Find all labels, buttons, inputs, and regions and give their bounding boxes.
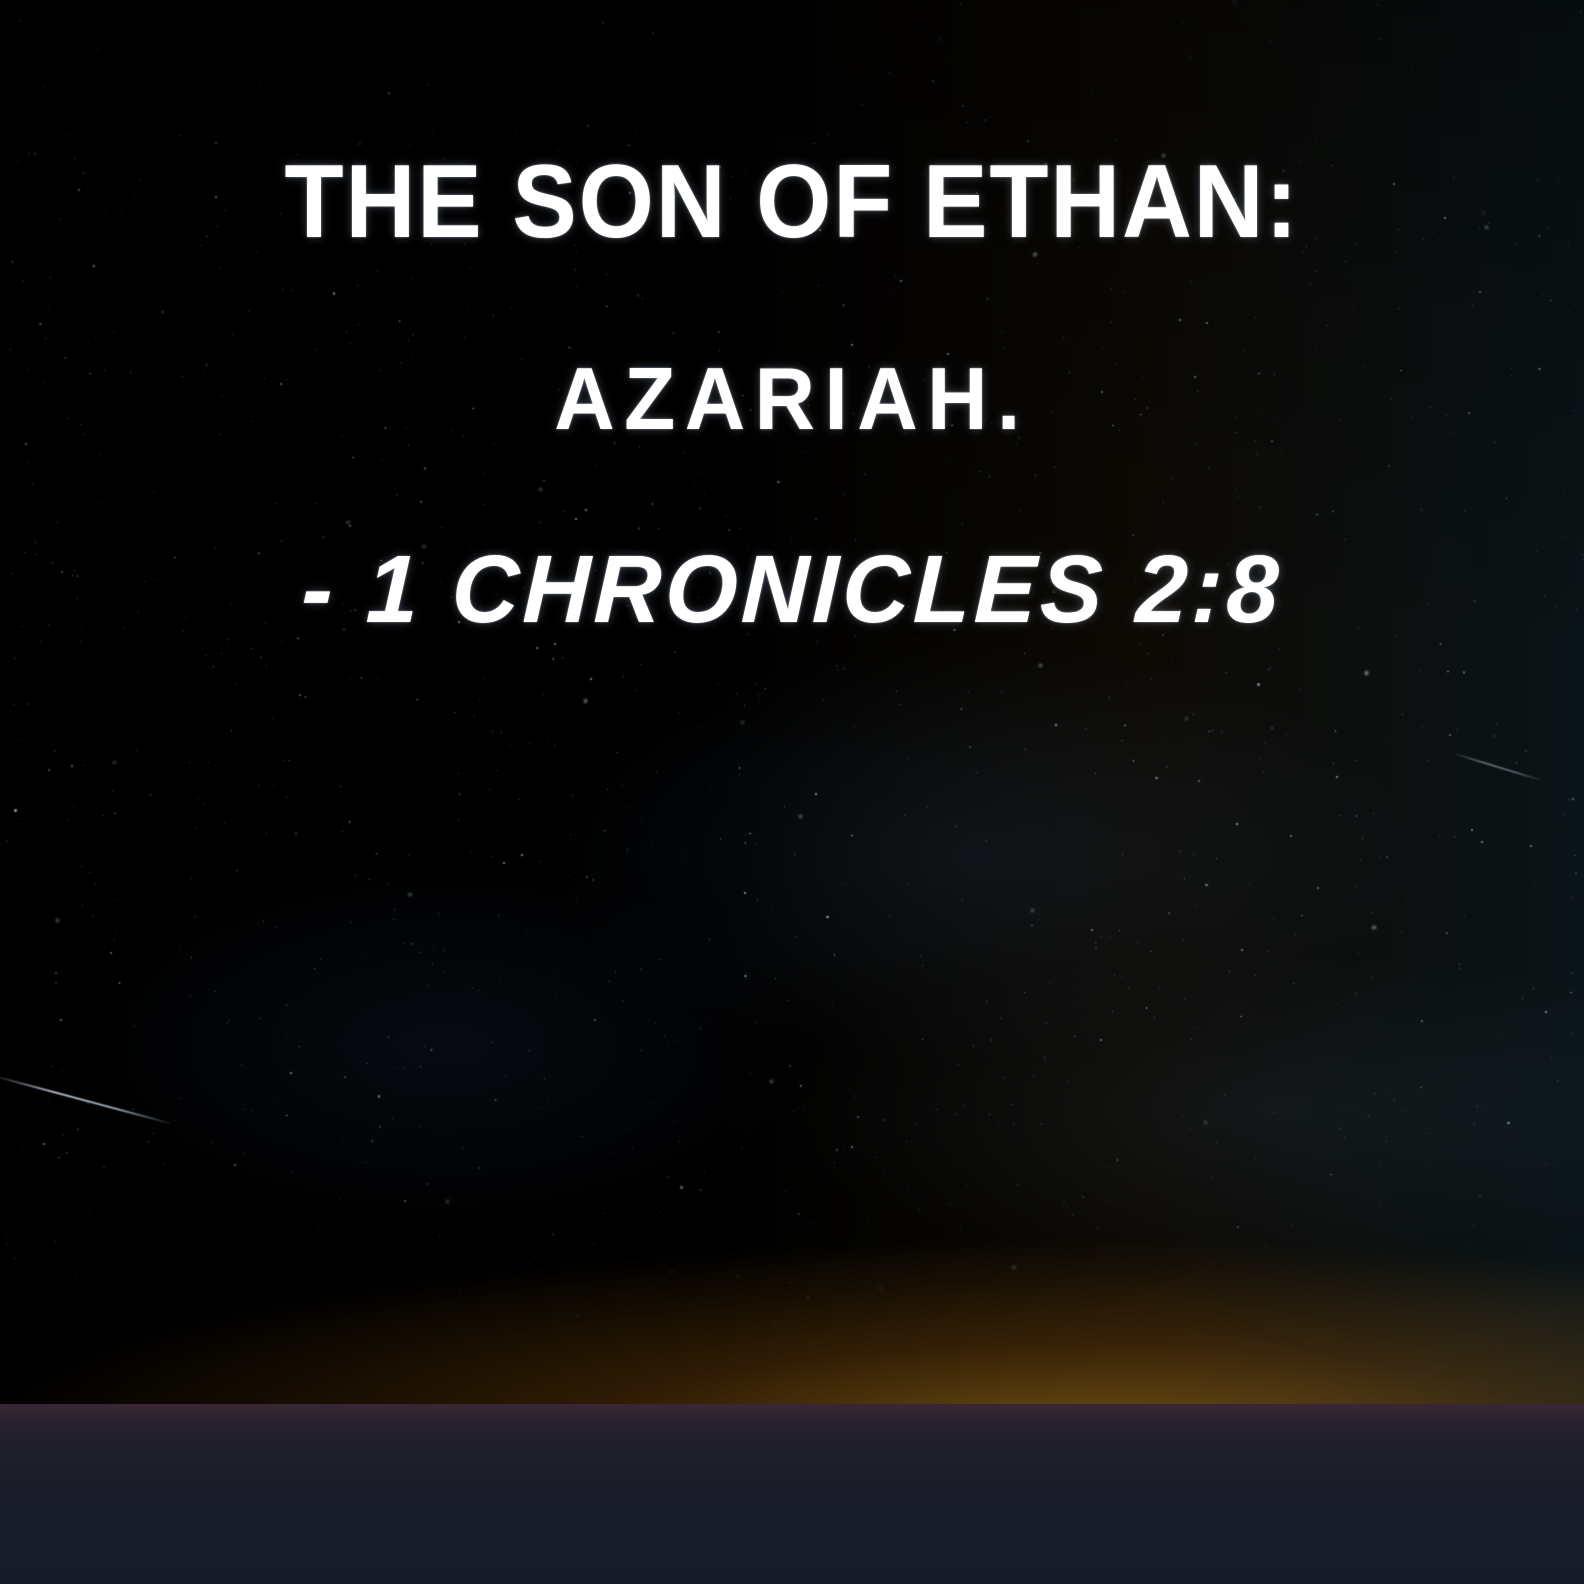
verse-line-2: AZARIAH.	[40, 355, 1545, 443]
verse-reference: - 1 CHRONICLES 2:8	[22, 542, 1562, 638]
quote-image-canvas: THE SON OF ETHAN: AZARIAH. - 1 CHRONICLE…	[0, 0, 1584, 1584]
verse-line-1: THE SON OF ETHAN:	[55, 150, 1528, 254]
meteor-left-streak	[0, 1074, 174, 1125]
meteor-right-streak	[1452, 752, 1544, 782]
